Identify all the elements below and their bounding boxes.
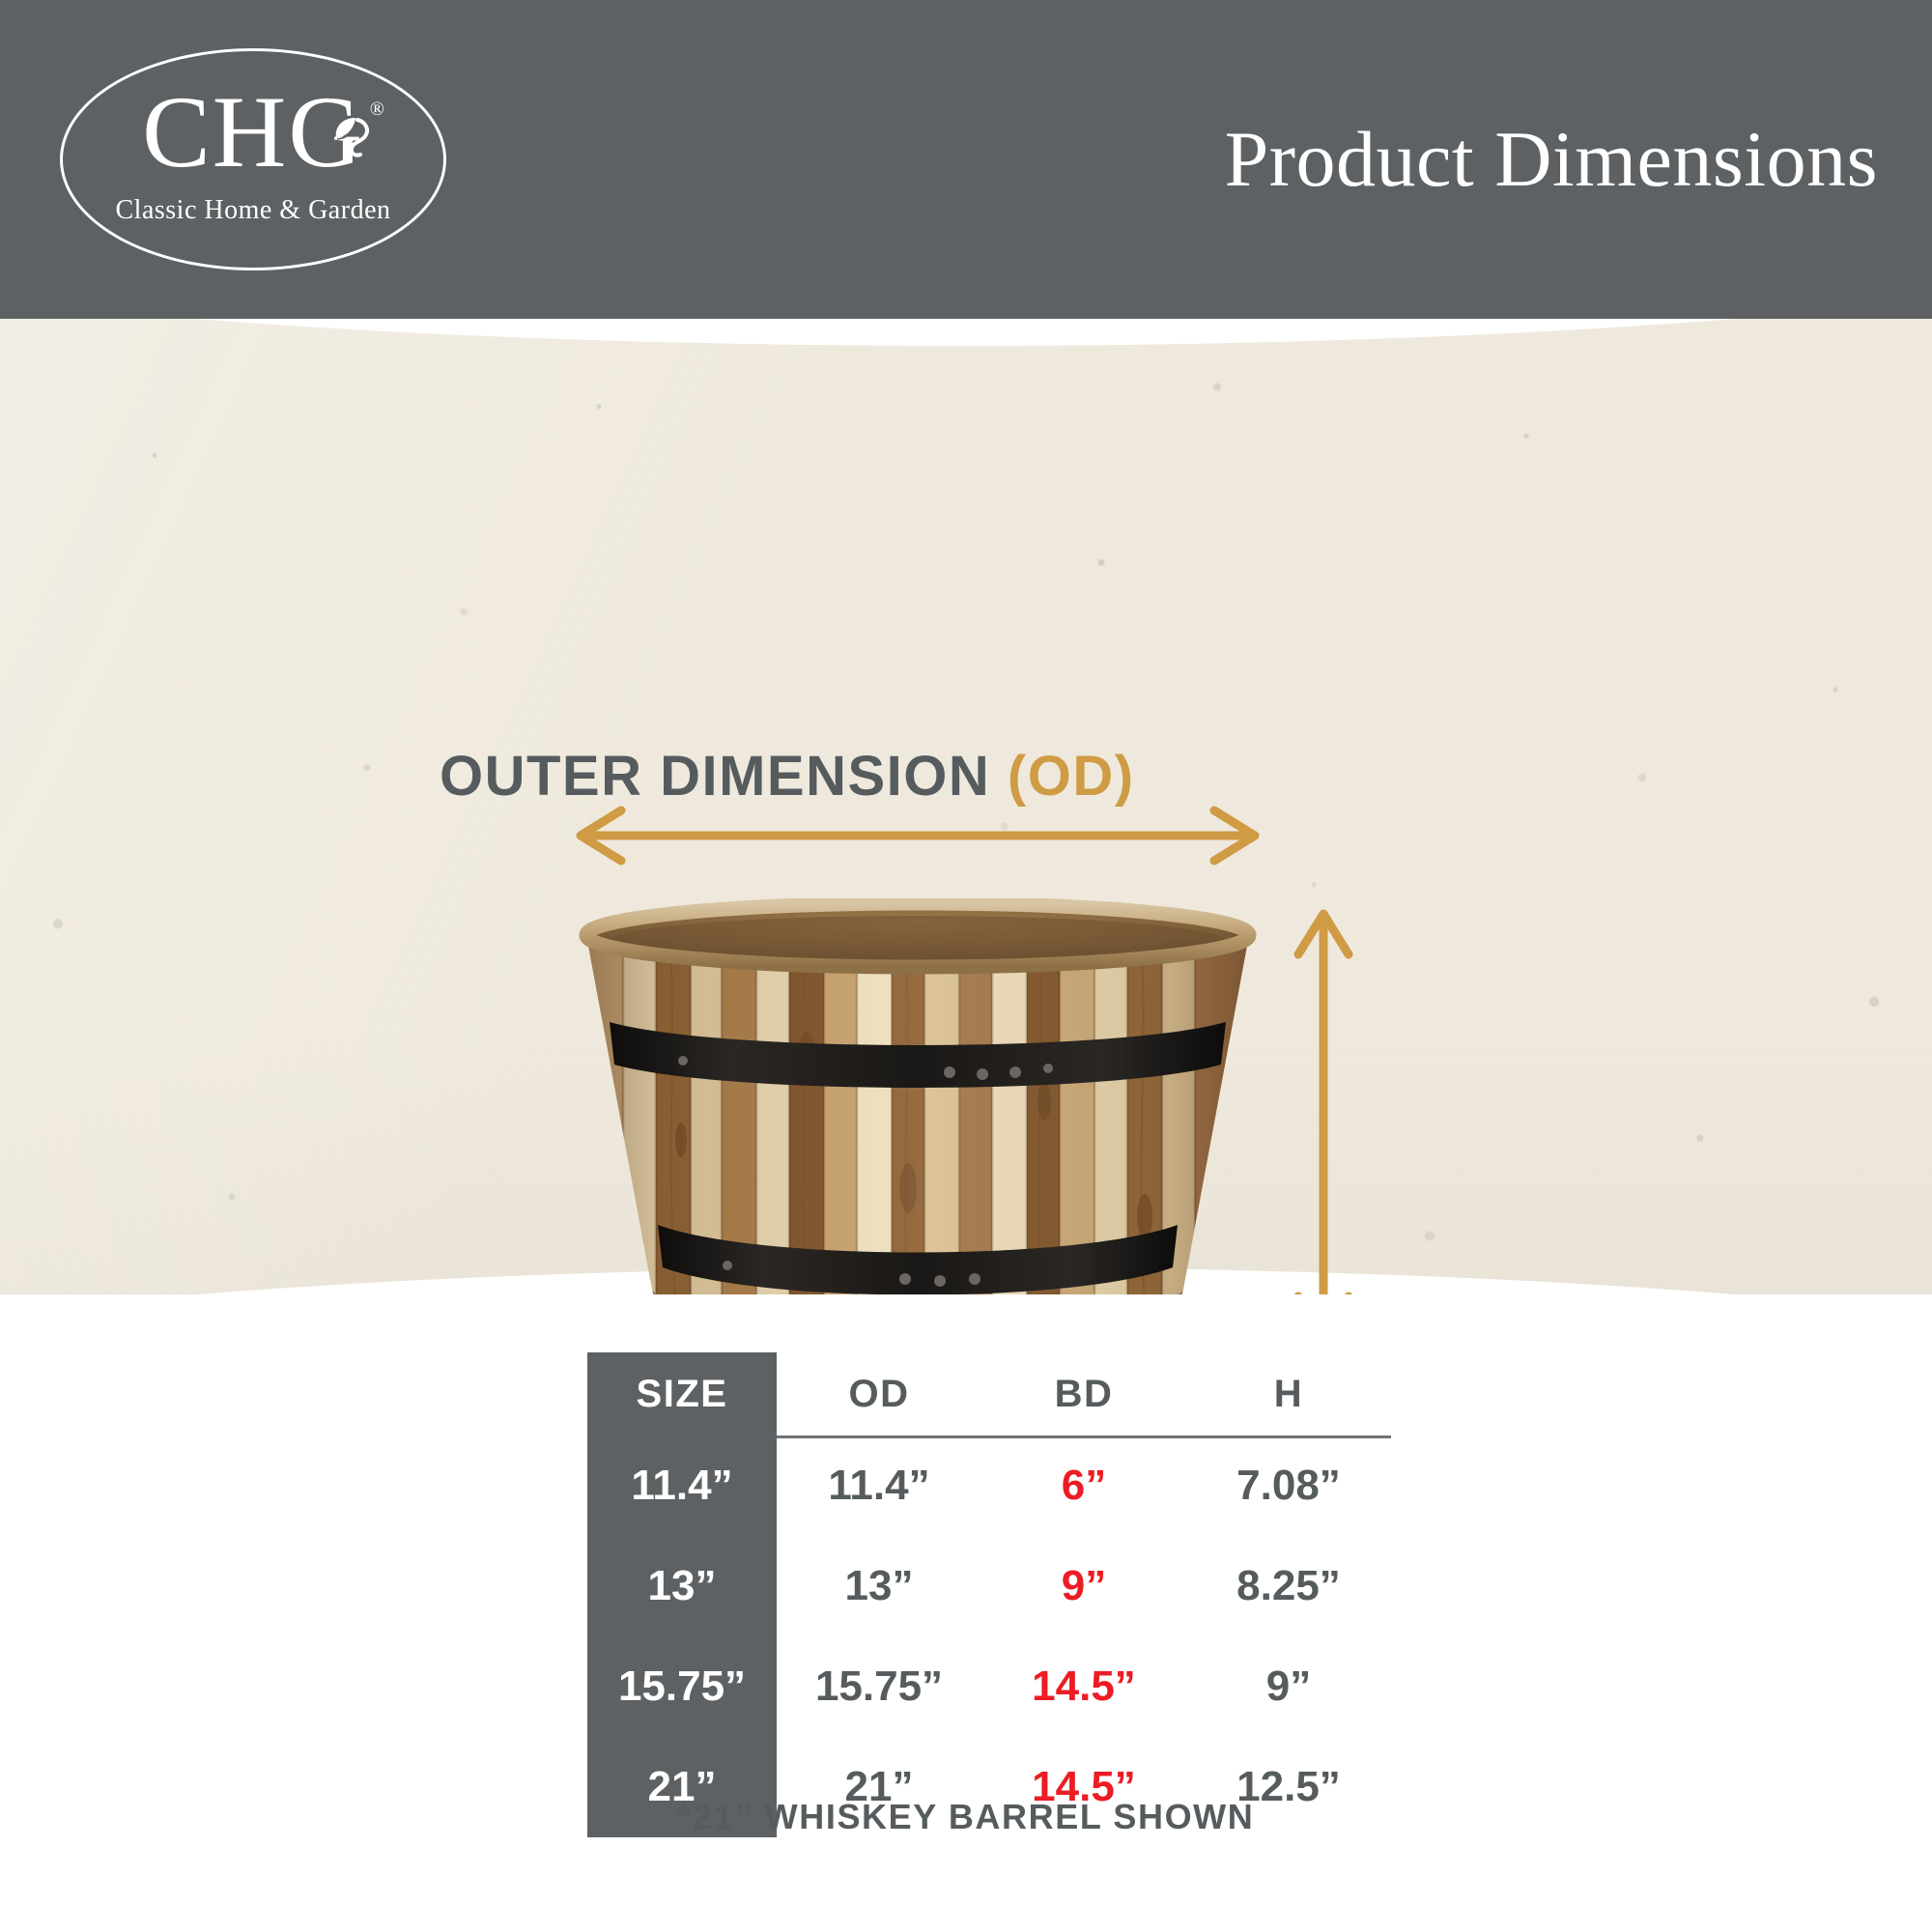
chg-logo: CHG ® Classic Home & Garden <box>60 48 446 270</box>
cell-bd: 9” <box>981 1536 1186 1636</box>
column-header-h: H <box>1186 1352 1391 1435</box>
label-height-text: HEIGHT <box>1381 1286 1619 1294</box>
header-bar: CHG ® Classic Home & Garden Product Dime… <box>0 0 1932 319</box>
column-header-size: SIZE <box>587 1352 777 1435</box>
cell-od: 15.75” <box>777 1636 981 1737</box>
logo-tagline: Classic Home & Garden <box>60 195 446 226</box>
cell-size: 11.4” <box>587 1435 777 1536</box>
label-outer-dimension-text: OUTER DIMENSION <box>440 745 1008 808</box>
table-header-row: SIZE OD BD H <box>587 1352 1391 1435</box>
leaf-vine-icon <box>323 108 375 158</box>
label-outer-dimension: OUTER DIMENSION (OD) <box>440 744 1135 809</box>
column-header-od: OD <box>777 1352 981 1435</box>
label-height: HEIGHT (H) <box>1381 1285 1701 1294</box>
table-footnote: *21” WHISKEY BARREL SHOWN <box>0 1797 1932 1837</box>
cell-h: 8.25” <box>1186 1536 1391 1636</box>
cell-bd: 6” <box>981 1435 1186 1536</box>
cell-od: 13” <box>777 1536 981 1636</box>
table-header-rule <box>777 1435 1391 1438</box>
table-row: 13” 13” 9” 8.25” <box>587 1536 1391 1636</box>
cell-h: 9” <box>1186 1636 1391 1737</box>
product-dimensions-infographic: CHG ® Classic Home & Garden Product Dime… <box>0 0 1932 1932</box>
logo-monogram: CHG <box>60 81 446 184</box>
column-header-bd: BD <box>981 1352 1186 1435</box>
table-row: 15.75” 15.75” 14.5” 9” <box>587 1636 1391 1737</box>
whiskey-barrel-planter-image <box>565 898 1270 1294</box>
cell-bd: 14.5” <box>981 1636 1186 1737</box>
arrow-outer-dimension <box>565 807 1270 865</box>
cell-size: 15.75” <box>587 1636 777 1737</box>
label-height-code: (H) <box>1619 1286 1701 1294</box>
dimensions-table-section: SIZE OD BD H 11.4” 11.4” 6” 7.08” 13” 13… <box>0 1294 1932 1932</box>
dimensions-table: SIZE OD BD H 11.4” 11.4” 6” 7.08” 13” 13… <box>587 1352 1391 1837</box>
label-outer-dimension-code: (OD) <box>1008 745 1135 808</box>
cell-h: 7.08” <box>1186 1435 1391 1536</box>
cell-size: 13” <box>587 1536 777 1636</box>
page-title: Product Dimensions <box>1225 114 1878 205</box>
arrow-height <box>1294 898 1352 1294</box>
cell-od: 11.4” <box>777 1435 981 1536</box>
table-row: 11.4” 11.4” 6” 7.08” <box>587 1435 1391 1536</box>
diagram-panel: OUTER DIMENSION (OD) <box>0 319 1932 1294</box>
registered-trademark-icon: ® <box>370 99 384 121</box>
